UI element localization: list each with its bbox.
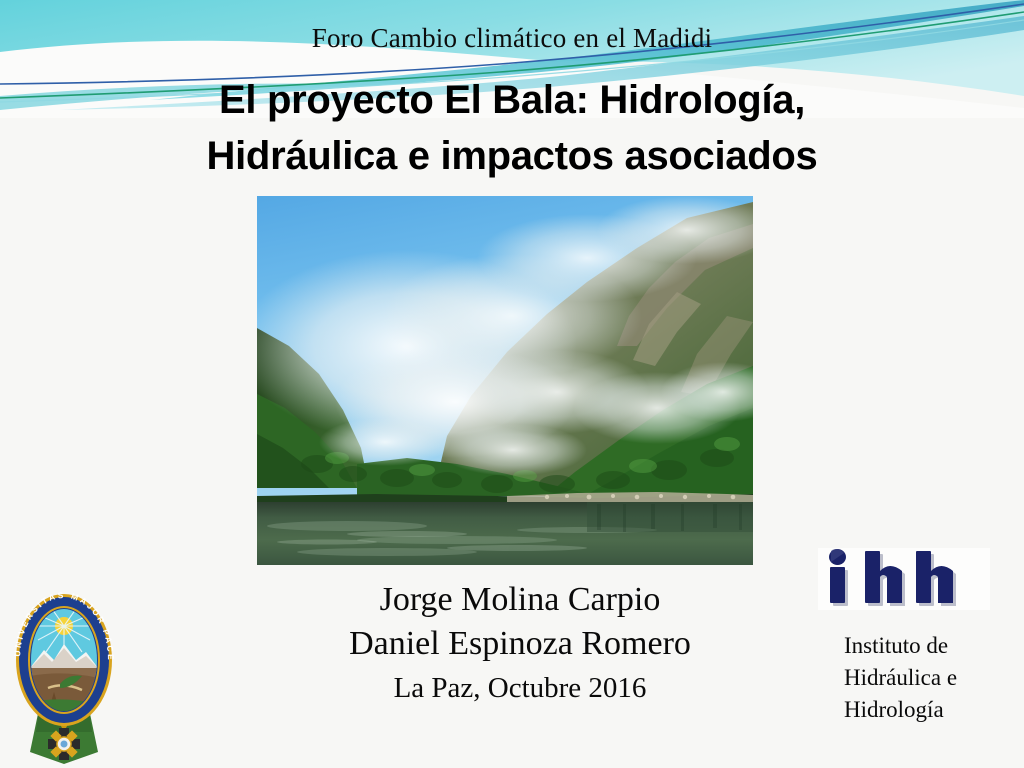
- ihh-caption: Instituto de Hidráulica e Hidrología: [844, 630, 1018, 726]
- el-bala-gorge-photo: [257, 196, 753, 565]
- title-line-1: El proyecto El Bala: Hidrología,: [24, 72, 1000, 128]
- umsa-seal-logo: UNIVERSITAS MAJOR PACENSIS DIVI ANDREÆ: [2, 556, 126, 768]
- author-name-1: Jorge Molina Carpio: [232, 578, 808, 622]
- presentation-slide: Foro Cambio climático en el Madidi El pr…: [0, 0, 1024, 768]
- ihh-caption-line-2: Hidráulica e: [844, 662, 1018, 694]
- ihh-caption-line-1: Instituto de: [844, 630, 1018, 662]
- place-and-date: La Paz, Octubre 2016: [232, 668, 808, 708]
- ihh-caption-line-3: Hidrología: [844, 694, 1018, 726]
- author-block: Jorge Molina Carpio Daniel Espinoza Rome…: [232, 578, 808, 708]
- title-line-2: Hidráulica e impactos asociados: [24, 128, 1000, 184]
- ihh-logo-block: Instituto de Hidráulica e Hidrología: [818, 548, 1018, 760]
- ihh-wordmark: [818, 548, 990, 610]
- author-name-2: Daniel Espinoza Romero: [232, 622, 808, 666]
- forum-subtitle: Foro Cambio climático en el Madidi: [0, 22, 1024, 54]
- page-title: El proyecto El Bala: Hidrología, Hidrául…: [24, 72, 1000, 184]
